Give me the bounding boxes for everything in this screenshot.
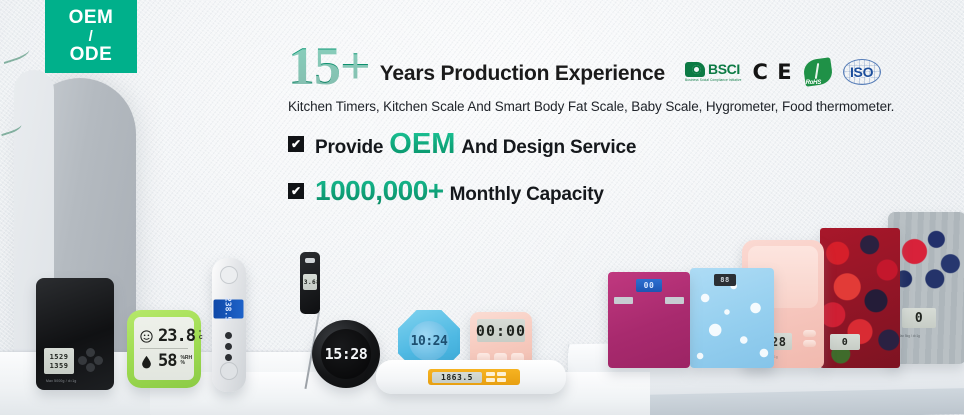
feature-suffix: Monthly Capacity <box>450 184 604 206</box>
product-baby-scale: 1863.5 <box>376 360 566 394</box>
scale-black-display: 1529 1359 <box>44 348 74 374</box>
scale-black-caption: Max 5000g / d=1g <box>46 379 76 383</box>
headline-block: 15+ Years Production Experience BSCI Bus… <box>288 42 956 207</box>
check-tick: ✔ <box>291 185 301 197</box>
feature-highlight-oem: OEM <box>389 128 455 161</box>
scale-black-display-top: 1529 <box>50 353 69 361</box>
checkbox-icon: ✔ <box>288 183 304 199</box>
feature-text-capacity: 1000,000+ Monthly Capacity <box>315 175 604 207</box>
scale-grey-caption: Max 5kg / d=1g <box>898 334 920 338</box>
scale-magenta-display: 00 <box>636 279 662 292</box>
feature-text-oem: Provide OEM And Design Service <box>315 128 636 161</box>
feature-row-oem: ✔ Provide OEM And Design Service <box>288 128 956 161</box>
pink-timer-display: 00:00 <box>477 319 525 342</box>
cert-ce: C E <box>753 60 793 84</box>
hygrometer-screen: 23.8 ° C 58 %RH % <box>134 317 194 380</box>
product-berry-scale: 0 <box>820 228 900 368</box>
leaf-wisp-icon <box>1 46 31 64</box>
electrode-strip-left <box>614 297 633 304</box>
certification-logos: BSCI Business Social Compliance Initiati… <box>685 59 881 92</box>
round-timer-display: 15:28 <box>325 345 368 363</box>
thermo-fold-knob <box>220 266 238 284</box>
pink-scale-buttons <box>803 330 816 350</box>
thermo-fold-display: 238.5 <box>214 300 244 319</box>
product-black-kitchen-scale: 1529 1359 Max 5000g / d=1g <box>36 278 114 390</box>
baby-scale-keys <box>486 372 508 383</box>
product-folding-thermometer: 238.5 <box>212 258 246 392</box>
headline-text: Years Production Experience <box>380 62 665 92</box>
hygrometer-temp-unit: ° C <box>199 331 203 342</box>
product-hygrometer: 23.8 ° C 58 %RH % <box>127 310 201 388</box>
iso-globe-icon: ISO <box>843 59 881 85</box>
scale-berry-display: 0 <box>830 334 860 350</box>
feature-suffix: And Design Service <box>461 137 636 159</box>
product-round-timer: 15:28 <box>312 320 380 388</box>
feature-row-capacity: ✔ 1000,000+ Monthly Capacity <box>288 175 956 207</box>
baby-scale-display: 1863.5 <box>432 372 482 383</box>
thermo-fold-hinge <box>220 362 238 380</box>
badge-line-2: ODE <box>70 45 113 65</box>
hygrometer-temperature: 23.8 <box>158 326 195 346</box>
probe-hang-hole <box>305 258 315 263</box>
scale-black-buttons <box>78 348 104 372</box>
oem-ode-badge: OEM / ODE <box>45 0 137 73</box>
octagon-timer-display: 10:24 <box>411 334 448 349</box>
years-number: 15+ <box>288 42 370 92</box>
product-probe-thermometer: 23.68 <box>300 252 320 314</box>
product-dotted-body-scale: 88 <box>690 268 774 368</box>
octagon-timer-face: 10:24 <box>409 321 449 361</box>
feature-highlight-capacity: 1000,000+ <box>315 175 444 207</box>
product-smart-body-fat-scale: 00 <box>608 272 690 368</box>
cert-bsci: BSCI Business Social Compliance Initiati… <box>685 61 742 82</box>
cert-rohs: RoHS <box>804 59 832 85</box>
promo-banner: OEM / ODE 15+ Years Production Experienc… <box>0 0 964 415</box>
thermo-fold-button <box>225 343 232 350</box>
hygrometer-hum-unit: %RH % <box>180 356 192 367</box>
smiley-face-icon <box>139 329 154 344</box>
cert-bsci-label: BSCI <box>708 61 740 77</box>
hygrometer-humidity-row: 58 %RH % <box>139 351 189 371</box>
check-tick: ✔ <box>291 138 301 150</box>
cert-iso: ISO <box>843 59 881 85</box>
feature-prefix: Provide <box>315 137 383 159</box>
cert-ce-label: C E <box>753 60 793 84</box>
cert-rohs-label: RoHS <box>806 80 822 86</box>
thermo-probe-display: 23.68 <box>303 274 317 290</box>
cert-bsci-sub: Business Social Compliance Initiative <box>685 78 742 82</box>
hygrometer-divider <box>140 348 188 349</box>
electrode-strip-right <box>665 297 684 304</box>
hygrometer-humidity: 58 <box>158 351 176 371</box>
checkbox-icon: ✔ <box>288 136 304 152</box>
headline-row: 15+ Years Production Experience BSCI Bus… <box>288 42 956 92</box>
water-droplet-icon <box>139 354 154 369</box>
badge-line-1: OEM <box>69 8 114 28</box>
rohs-leaf-icon: RoHS <box>804 59 832 85</box>
bsci-mark-icon <box>685 62 705 77</box>
product-subtitle: Kitchen Timers, Kitchen Scale And Smart … <box>288 99 956 114</box>
thermo-fold-button <box>225 332 232 339</box>
scale-grey-display: 0 <box>902 308 936 328</box>
cert-iso-label: ISO <box>850 64 873 80</box>
round-timer-face: 15:28 <box>321 329 371 379</box>
cert-bsci-top: BSCI <box>685 61 740 77</box>
scale-dots-display: 88 <box>714 274 736 286</box>
hygrometer-temp-row: 23.8 ° C <box>139 326 189 346</box>
baby-scale-control-strip: 1863.5 <box>428 369 520 385</box>
thermo-fold-button <box>225 354 232 361</box>
scale-black-display-bottom: 1359 <box>50 362 69 370</box>
badge-separator: / <box>89 29 94 45</box>
